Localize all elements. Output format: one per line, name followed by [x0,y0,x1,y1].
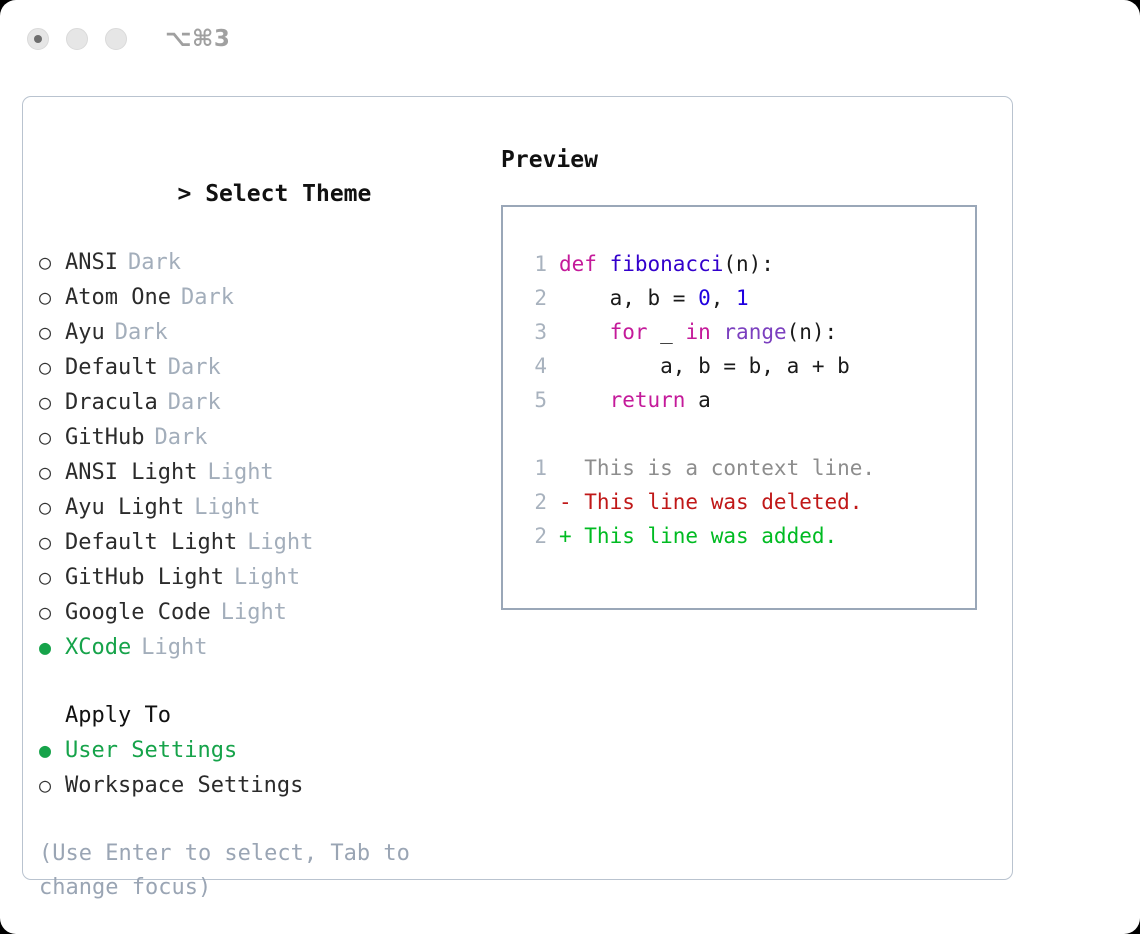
code-token: range [723,320,786,344]
radio-unselected-icon: ○ [39,350,65,384]
theme-option[interactable]: ○GitHub LightLight [39,560,489,595]
apply-to-list: ●User Settings○Workspace Settings [39,733,489,803]
code-line-text: return a [559,383,711,417]
theme-option-label: Atom One [65,281,171,315]
code-line: 1def fibonacci(n): [517,247,975,281]
traffic-light-second-icon[interactable] [66,28,88,50]
theme-option-label: GitHub Light [65,561,224,595]
code-sample: 1def fibonacci(n):2 a, b = 0, 13 for _ i… [517,247,975,417]
code-line: 3 for _ in range(n): [517,315,975,349]
code-line-text: a, b = 0, 1 [559,281,749,315]
apply-to-option-label: User Settings [65,734,237,768]
theme-option[interactable]: ○ANSI LightLight [39,455,489,490]
traffic-light-third-icon[interactable] [105,28,127,50]
line-number: 2 [517,485,547,519]
theme-option[interactable]: ○GitHubDark [39,420,489,455]
code-line-text: for _ in range(n): [559,315,837,349]
theme-option[interactable]: ○Atom OneDark [39,280,489,315]
code-token: 1 [736,286,749,310]
theme-option-label: Default Light [65,526,237,560]
code-line-text: def fibonacci(n): [559,247,774,281]
code-line-text: a, b = b, a + b [559,349,850,383]
code-token: 0 [698,286,711,310]
line-number: 3 [517,315,547,349]
preview-column: Preview 1def fibonacci(n):2 a, b = 0, 13… [501,143,1001,610]
radio-unselected-icon: ○ [39,490,65,524]
line-number: 1 [517,451,547,485]
code-token: (n): [723,252,774,276]
code-line: 2 a, b = 0, 1 [517,281,975,315]
theme-option-tag: Dark [168,386,221,420]
theme-option-label: GitHub [65,421,144,455]
theme-option-tag: Dark [128,246,181,280]
theme-option[interactable]: ○Default LightLight [39,525,489,560]
theme-option[interactable]: ●XCodeLight [39,630,489,665]
radio-unselected-icon: ○ [39,385,65,419]
theme-option[interactable]: ○ANSIDark [39,245,489,280]
theme-option-tag: Light [234,561,300,595]
radio-unselected-icon: ○ [39,315,65,349]
apply-to-option-label: Workspace Settings [65,769,303,803]
radio-unselected-icon: ○ [39,245,65,279]
title-bar: ⌥⌘3 [0,0,1140,78]
radio-unselected-icon: ○ [39,455,65,489]
line-number: 4 [517,349,547,383]
theme-list: ○ANSIDark○Atom OneDark○AyuDark○DefaultDa… [39,245,489,665]
diff-line: 2- This line was deleted. [517,485,975,519]
code-token: (n): [787,320,838,344]
app-window: ⌥⌘3 > Select Theme ○ANSIDark○Atom OneDar… [0,0,1140,934]
theme-option-label: ANSI [65,246,118,280]
theme-option-tag: Light [247,526,313,560]
theme-option[interactable]: ○Ayu LightLight [39,490,489,525]
apply-to-heading: Apply To [39,699,489,733]
main-panel: > Select Theme ○ANSIDark○Atom OneDark○Ay… [22,96,1013,880]
caret-icon: > [177,181,191,207]
diff-line: 1 This is a context line. [517,451,975,485]
theme-option-label: ANSI Light [65,456,197,490]
code-token: return [610,388,686,412]
theme-option-tag: Dark [181,281,234,315]
theme-option-tag: Light [207,456,273,490]
theme-option-label: Ayu Light [65,491,184,525]
traffic-light-dot-icon [34,35,42,43]
apply-to-option[interactable]: ○Workspace Settings [39,768,489,803]
code-line: 4 a, b = b, a + b [517,349,975,383]
preview-box: 1def fibonacci(n):2 a, b = 0, 13 for _ i… [501,205,977,610]
radio-unselected-icon: ○ [39,525,65,559]
code-token: def [559,252,610,276]
theme-option[interactable]: ○Google CodeLight [39,595,489,630]
theme-option-tag: Dark [115,316,168,350]
radio-unselected-icon: ○ [39,768,65,802]
code-line: 5 return a [517,383,975,417]
theme-option-label: Default [65,351,158,385]
theme-option-tag: Light [194,491,260,525]
diff-line-text: This is a context line. [559,451,875,485]
line-number: 2 [517,281,547,315]
theme-option-tag: Dark [154,421,207,455]
spacer [39,665,489,699]
traffic-light-active-icon[interactable] [27,28,49,50]
keyboard-hint: (Use Enter to select, Tab to change focu… [39,837,439,905]
line-number: 1 [517,247,547,281]
code-token: a, b = b, a + b [559,354,850,378]
diff-line: 2+ This line was added. [517,519,975,553]
code-token: for [610,320,648,344]
radio-selected-icon: ● [39,733,65,767]
code-token: in [685,320,710,344]
radio-unselected-icon: ○ [39,595,65,629]
code-token: a, b = [559,286,698,310]
code-token [559,388,610,412]
theme-option-label: Ayu [65,316,105,350]
code-token [559,320,610,344]
code-token: fibonacci [610,252,724,276]
theme-option-label: XCode [65,631,131,665]
theme-option-tag: Light [221,596,287,630]
apply-to-option[interactable]: ●User Settings [39,733,489,768]
diff-sample: 1 This is a context line.2- This line wa… [517,451,975,553]
theme-option[interactable]: ○DefaultDark [39,350,489,385]
theme-option-tag: Light [141,631,207,665]
line-number: 5 [517,383,547,417]
theme-option-label: Google Code [65,596,211,630]
code-token: a [685,388,710,412]
preview-title: Preview [501,143,1001,177]
code-token: , [711,286,736,310]
window-controls [27,28,127,50]
diff-line-text: - This line was deleted. [559,485,862,519]
theme-option-tag: Dark [168,351,221,385]
page-title: > Select Theme [39,143,489,245]
theme-option[interactable]: ○AyuDark [39,315,489,350]
spacer [517,417,975,451]
radio-unselected-icon: ○ [39,420,65,454]
radio-selected-icon: ● [39,630,65,664]
radio-unselected-icon: ○ [39,560,65,594]
keyboard-shortcut-label: ⌥⌘3 [165,26,230,52]
theme-option-label: Dracula [65,386,158,420]
theme-picker-column: > Select Theme ○ANSIDark○Atom OneDark○Ay… [39,143,489,905]
code-token: _ [648,320,686,344]
theme-option[interactable]: ○DraculaDark [39,385,489,420]
code-token [711,320,724,344]
radio-unselected-icon: ○ [39,280,65,314]
line-number: 2 [517,519,547,553]
page-title-label: Select Theme [205,181,371,207]
diff-line-text: + This line was added. [559,519,837,553]
